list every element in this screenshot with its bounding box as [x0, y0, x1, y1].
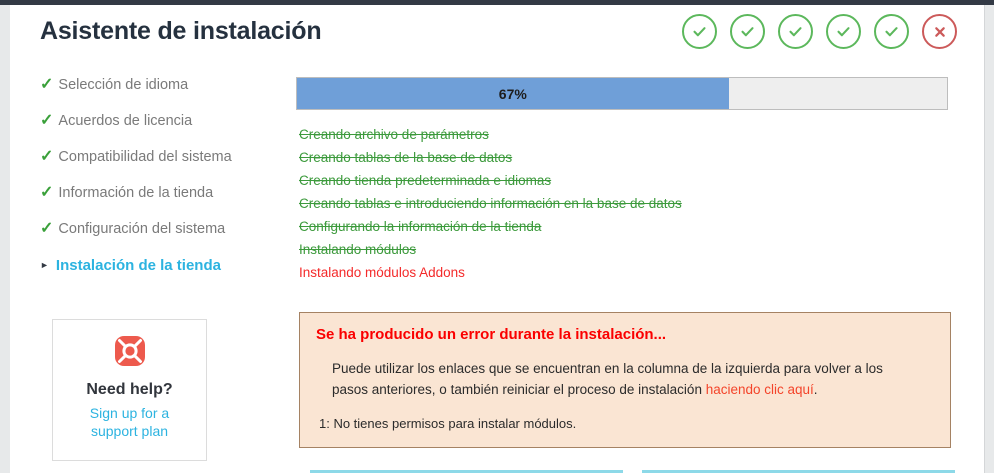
- page-header: Asistente de instalación: [10, 5, 985, 62]
- sidebar-item-shop-info[interactable]: ✓ Información de la tienda: [10, 175, 288, 211]
- sidebar-item-label: Selección de idioma: [58, 77, 188, 93]
- install-task-list: Creando archivo de parámetros Creando ta…: [299, 128, 959, 289]
- check-icon: [883, 23, 900, 40]
- check-icon: ✓: [40, 77, 53, 93]
- step-indicator-group: [682, 14, 957, 49]
- help-title: Need help?: [53, 381, 206, 399]
- page-title: Asistente de instalación: [40, 17, 321, 46]
- task-item-failed: Instalando módulos Addons: [299, 266, 959, 289]
- task-item: Creando archivo de parámetros: [299, 128, 959, 151]
- sidebar-item-label: Instalación de la tienda: [56, 257, 221, 274]
- task-item: Creando tienda predeterminada e idiomas: [299, 174, 959, 197]
- support-plan-link[interactable]: Sign up for a support plan: [53, 405, 206, 440]
- task-item: Configurando la información de la tienda: [299, 220, 959, 243]
- check-icon: [835, 23, 852, 40]
- sidebar-item-label: Compatibilidad del sistema: [58, 149, 231, 165]
- sidebar-item-compatibility[interactable]: ✓ Compatibilidad del sistema: [10, 139, 288, 175]
- error-title: Se ha producido un error durante la inst…: [316, 326, 934, 343]
- support-plan-link-line1: Sign up for a: [90, 405, 169, 421]
- sidebar-item-label: Acuerdos de licencia: [58, 113, 192, 129]
- wizard-sidebar: ✓ Selección de idioma ✓ Acuerdos de lice…: [10, 67, 288, 283]
- step-indicator-4[interactable]: [826, 14, 861, 49]
- check-icon: [739, 23, 756, 40]
- sidebar-item-shop-installation[interactable]: ► Instalación de la tienda: [10, 247, 288, 283]
- step-indicator-6[interactable]: [922, 14, 957, 49]
- check-icon: ✓: [40, 149, 53, 165]
- step-indicator-3[interactable]: [778, 14, 813, 49]
- check-icon: ✓: [40, 185, 53, 201]
- step-indicator-2[interactable]: [730, 14, 765, 49]
- sidebar-item-license[interactable]: ✓ Acuerdos de licencia: [10, 103, 288, 139]
- error-message-suffix: .: [814, 382, 818, 397]
- help-box: Need help? Sign up for a support plan: [52, 319, 207, 461]
- sidebar-item-label: Información de la tienda: [58, 185, 213, 201]
- step-indicator-1[interactable]: [682, 14, 717, 49]
- sidebar-item-language[interactable]: ✓ Selección de idioma: [10, 67, 288, 103]
- error-message: Puede utilizar los enlaces que se encuen…: [316, 359, 934, 401]
- install-progress-fill: 67%: [297, 78, 729, 109]
- sidebar-item-label: Configuración del sistema: [58, 221, 225, 237]
- installation-error-box: Se ha producido un error durante la inst…: [299, 312, 951, 448]
- caret-right-icon: ►: [40, 261, 49, 270]
- check-icon: [691, 23, 708, 40]
- task-item: Creando tablas de la base de datos: [299, 151, 959, 174]
- task-item: Creando tablas e introduciendo informaci…: [299, 197, 959, 220]
- restart-installation-link[interactable]: haciendo clic aquí: [706, 382, 814, 397]
- install-progress-label: 67%: [499, 86, 527, 102]
- check-icon: ✓: [40, 113, 53, 129]
- check-icon: ✓: [40, 221, 53, 237]
- error-detail: 1: No tienes permisos para instalar módu…: [319, 416, 576, 431]
- sidebar-item-system-config[interactable]: ✓ Configuración del sistema: [10, 211, 288, 247]
- support-plan-link-line2: support plan: [91, 423, 168, 439]
- installer-page: Asistente de instalación: [10, 5, 985, 473]
- install-progress-bar: 67%: [296, 77, 948, 110]
- step-indicator-5[interactable]: [874, 14, 909, 49]
- check-icon: [787, 23, 804, 40]
- close-icon: [932, 24, 948, 40]
- task-item: Instalando módulos: [299, 243, 959, 266]
- lifebuoy-icon: [53, 334, 206, 373]
